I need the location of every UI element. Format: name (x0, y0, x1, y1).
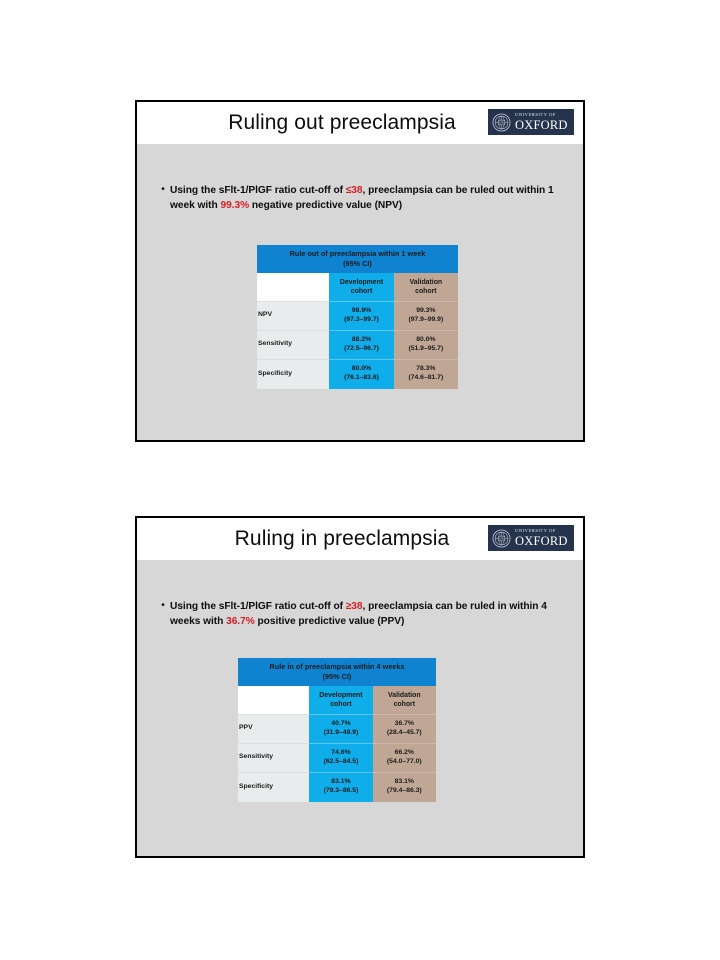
cell-ppv-validation: 36.7% (28.4–45.7) (373, 715, 436, 744)
slide-body: • Using the sFlt-1/PlGF ratio cut-off of… (137, 144, 583, 440)
oxford-crest-icon: OX (492, 113, 511, 132)
confidence-interval: (79.3–86.5) (310, 787, 371, 796)
bullet-marker-icon: • (156, 599, 170, 613)
table-row: Specificity 83.1% (79.3–86.5) 83.1% (79.… (238, 773, 436, 802)
page-title: Ruling out preeclampsia (228, 111, 456, 135)
bullet-text: Using the sFlt-1/PlGF ratio cut-off of ≥… (170, 599, 567, 629)
stats-table-rule-in: Rule in of preeclampsia within 4 weeks (… (238, 658, 436, 802)
confidence-interval: (62.5–84.5) (310, 758, 371, 767)
confidence-interval: (79.4–86.3) (374, 787, 435, 796)
bullet-point: • Using the sFlt-1/PlGF ratio cut-off of… (156, 599, 567, 629)
table-header-row: Rule out of preeclampsia within 1 week (… (257, 245, 458, 273)
row-label-specificity: Specificity (238, 773, 309, 802)
row-label-specificity: Specificity (257, 360, 329, 389)
confidence-interval: (31.9–49.9) (310, 729, 371, 738)
column-header-development: Development cohort (329, 273, 393, 302)
oxford-logo-oxford-line: OXFORD (515, 535, 568, 548)
confidence-interval: (51.9–95.7) (395, 345, 457, 354)
bullet-text: Using the sFlt-1/PlGF ratio cut-off of ≤… (170, 183, 567, 213)
bullet-text-part1: Using the sFlt-1/PlGF ratio cut-off of (170, 601, 346, 612)
table-corner-cell (238, 686, 309, 715)
oxford-crest-icon: OX (492, 529, 511, 548)
value: 66.2% (374, 749, 435, 758)
bullet-point: • Using the sFlt-1/PlGF ratio cut-off of… (156, 183, 567, 213)
bullet-text-part3: positive predictive value (PPV) (255, 616, 405, 627)
value: 83.1% (310, 778, 371, 787)
column-header-validation-line2: cohort (415, 288, 436, 295)
cell-ppv-development: 40.7% (31.9–49.9) (309, 715, 372, 744)
table-header-row: Rule in of preeclampsia within 4 weeks (… (238, 658, 436, 686)
value: 98.9% (330, 307, 392, 316)
value: 83.1% (374, 778, 435, 787)
bullet-highlight-value: 36.7% (226, 616, 255, 627)
value: 80.0% (330, 365, 392, 374)
table-corner-cell (257, 273, 329, 302)
stats-table-rule-out: Rule out of preeclampsia within 1 week (… (257, 245, 458, 389)
value: 36.7% (374, 720, 435, 729)
cell-specificity-development: 83.1% (79.3–86.5) (309, 773, 372, 802)
table-column-header-row: Development cohort Validation cohort (257, 273, 458, 302)
svg-text:OX: OX (499, 536, 504, 540)
bullet-marker-icon: • (156, 183, 170, 197)
value: 78.3% (395, 365, 457, 374)
column-header-validation-line2: cohort (394, 701, 415, 708)
value: 40.7% (310, 720, 371, 729)
row-label-npv: NPV (257, 302, 329, 331)
bullet-highlight-cutoff: ≤38 (346, 185, 363, 196)
oxford-logo-text: UNIVERSITY OF OXFORD (515, 529, 568, 547)
slide-title-bar: Ruling in preeclampsia OX UNIVERSITY OF … (137, 518, 583, 560)
oxford-logo-oxford-line: OXFORD (515, 119, 568, 132)
cell-npv-development: 98.9% (97.3–99.7) (329, 302, 393, 331)
column-header-development-line1: Development (340, 279, 383, 286)
value: 74.6% (310, 749, 371, 758)
confidence-interval: (72.5–96.7) (330, 345, 392, 354)
oxford-logo-university-line: UNIVERSITY OF (515, 113, 568, 118)
column-header-validation-line1: Validation (410, 279, 443, 286)
table-row: Sensitivity 88.2% (72.5–96.7) 80.0% (51.… (257, 331, 458, 360)
table-caption: Rule in of preeclampsia within 4 weeks (… (238, 658, 436, 686)
slide-ruling-in-preeclampsia: Ruling in preeclampsia OX UNIVERSITY OF … (135, 516, 585, 858)
cell-sensitivity-development: 88.2% (72.5–96.7) (329, 331, 393, 360)
column-header-validation: Validation cohort (394, 273, 458, 302)
confidence-interval: (97.3–99.7) (330, 316, 392, 325)
svg-text:OX: OX (499, 120, 504, 124)
cell-sensitivity-development: 74.6% (62.5–84.5) (309, 744, 372, 773)
table-row: NPV 98.9% (97.3–99.7) 99.3% (97.9–99.9) (257, 302, 458, 331)
row-label-sensitivity: Sensitivity (257, 331, 329, 360)
confidence-interval: (97.9–99.9) (395, 316, 457, 325)
cell-specificity-validation: 83.1% (79.4–86.3) (373, 773, 436, 802)
value: 99.3% (395, 307, 457, 316)
page-title: Ruling in preeclampsia (235, 527, 450, 551)
table-column-header-row: Development cohort Validation cohort (238, 686, 436, 715)
bullet-highlight-cutoff: ≥38 (346, 601, 363, 612)
confidence-interval: (54.0–77.0) (374, 758, 435, 767)
table-caption: Rule out of preeclampsia within 1 week (… (257, 245, 458, 273)
bullet-highlight-value: 99.3% (220, 200, 249, 211)
table-caption-subtitle: (95% CI) (323, 672, 352, 681)
bullet-text-part3: negative predictive value (NPV) (249, 200, 402, 211)
cell-npv-validation: 99.3% (97.9–99.9) (394, 302, 458, 331)
table-row: Specificity 80.0% (76.1–83.6) 78.3% (74.… (257, 360, 458, 389)
confidence-interval: (74.6–81.7) (395, 374, 457, 383)
slide-title-bar: Ruling out preeclampsia OX UNIVERSITY OF… (137, 102, 583, 144)
table-caption-title: Rule in of preeclampsia within 4 weeks (270, 662, 405, 671)
table-row: PPV 40.7% (31.9–49.9) 36.7% (28.4–45.7) (238, 715, 436, 744)
column-header-development-line2: cohort (351, 288, 372, 295)
cell-sensitivity-validation: 80.0% (51.9–95.7) (394, 331, 458, 360)
table-row: Sensitivity 74.6% (62.5–84.5) 66.2% (54.… (238, 744, 436, 773)
oxford-university-logo: OX UNIVERSITY OF OXFORD (488, 525, 574, 551)
slide-body: • Using the sFlt-1/PlGF ratio cut-off of… (137, 560, 583, 856)
row-label-ppv: PPV (238, 715, 309, 744)
cell-specificity-validation: 78.3% (74.6–81.7) (394, 360, 458, 389)
oxford-logo-text: UNIVERSITY OF OXFORD (515, 113, 568, 131)
bullet-text-part1: Using the sFlt-1/PlGF ratio cut-off of (170, 185, 346, 196)
value: 80.0% (395, 336, 457, 345)
cell-sensitivity-validation: 66.2% (54.0–77.0) (373, 744, 436, 773)
oxford-university-logo: OX UNIVERSITY OF OXFORD (488, 109, 574, 135)
slide-ruling-out-preeclampsia: Ruling out preeclampsia OX UNIVERSITY OF… (135, 100, 585, 442)
column-header-validation: Validation cohort (373, 686, 436, 715)
value: 88.2% (330, 336, 392, 345)
confidence-interval: (76.1–83.6) (330, 374, 392, 383)
column-header-development-line1: Development (319, 692, 362, 699)
row-label-sensitivity: Sensitivity (238, 744, 309, 773)
cell-specificity-development: 80.0% (76.1–83.6) (329, 360, 393, 389)
table-caption-title: Rule out of preeclampsia within 1 week (290, 249, 426, 258)
column-header-development-line2: cohort (330, 701, 351, 708)
confidence-interval: (28.4–45.7) (374, 729, 435, 738)
oxford-logo-university-line: UNIVERSITY OF (515, 529, 568, 534)
column-header-development: Development cohort (309, 686, 372, 715)
column-header-validation-line1: Validation (388, 692, 421, 699)
table-caption-subtitle: (95% CI) (343, 259, 372, 268)
